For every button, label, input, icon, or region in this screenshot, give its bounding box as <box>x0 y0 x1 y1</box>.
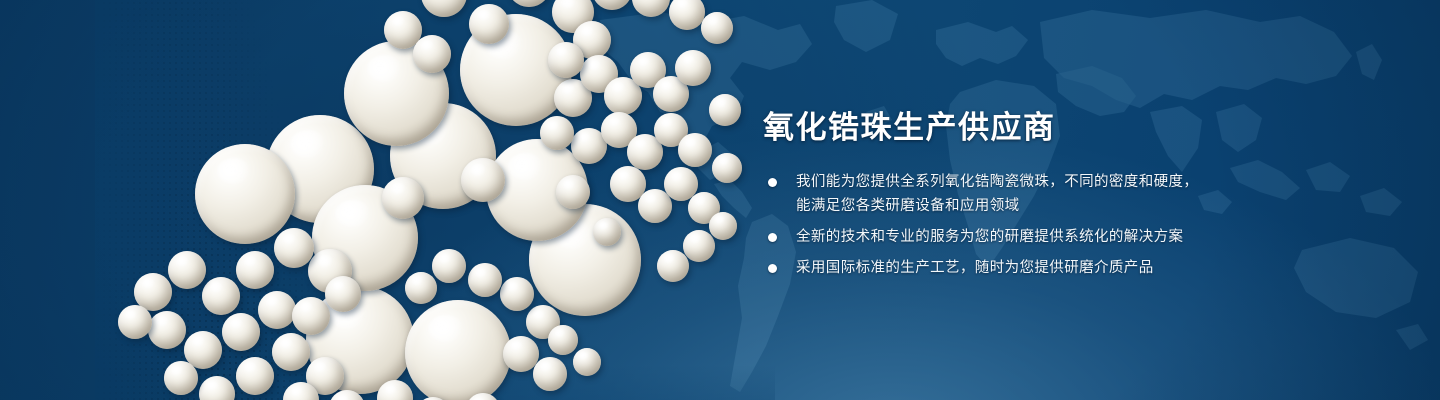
ceramic-bead <box>500 277 534 311</box>
ceramic-bead <box>709 94 741 126</box>
ceramic-bead <box>413 35 451 73</box>
ceramic-bead <box>272 333 310 371</box>
ceramic-bead <box>669 0 705 30</box>
ceramic-bead <box>421 0 467 17</box>
banner-headline: 氧化锆珠生产供应商 <box>763 108 1056 148</box>
ceramic-bead <box>168 251 206 289</box>
ceramic-bead <box>461 158 505 202</box>
ceramic-bead <box>468 263 502 297</box>
bullet-dot-icon <box>768 178 777 187</box>
bullet-dot-icon <box>768 233 777 242</box>
ceramic-bead <box>164 361 198 395</box>
banner-bullet-list: 我们能为您提供全系列氧化锆陶瓷微珠，不同的密度和硬度，能满足您各类研磨设备和应用… <box>768 170 1198 280</box>
ceramic-bead <box>556 175 590 209</box>
ceramic-bead <box>709 212 737 240</box>
ceramic-bead <box>701 12 733 44</box>
ceramic-bead <box>405 300 511 400</box>
ceramic-bead <box>148 311 186 349</box>
ceramic-bead <box>236 251 274 289</box>
ceramic-bead <box>540 116 574 150</box>
ceramic-bead <box>657 250 689 282</box>
banner-bullet-item: 采用国际标准的生产工艺，随时为您提供研磨介质产品 <box>768 256 1198 280</box>
ceramic-bead <box>432 249 466 283</box>
ceramic-bead <box>573 348 601 376</box>
ceramic-bead <box>469 4 509 44</box>
bullet-text-line: 采用国际标准的生产工艺，随时为您提供研磨介质产品 <box>796 256 1198 280</box>
bullet-text-line: 我们能为您提供全系列氧化锆陶瓷微珠，不同的密度和硬度， <box>796 170 1198 194</box>
ceramic-bead <box>325 276 361 312</box>
ceramic-bead <box>292 297 330 335</box>
banner-bullet-item: 我们能为您提供全系列氧化锆陶瓷微珠，不同的密度和硬度，能满足您各类研磨设备和应用… <box>768 170 1198 218</box>
ceramic-bead <box>274 228 314 268</box>
ceramic-bead <box>548 325 578 355</box>
ceramic-bead <box>548 42 584 78</box>
bullet-dot-icon <box>768 264 777 273</box>
ceramic-bead <box>632 0 670 17</box>
bead-cluster <box>95 0 775 400</box>
banner-content: 氧化锆珠生产供应商 我们能为您提供全系列氧化锆陶瓷微珠，不同的密度和硬度，能满足… <box>763 0 1403 400</box>
ceramic-bead <box>533 357 567 391</box>
banner-bullet-item: 全新的技术和专业的服务为您的研磨提供系统化的解决方案 <box>768 225 1198 249</box>
ceramic-bead <box>118 305 152 339</box>
ceramic-bead <box>712 153 742 183</box>
ceramic-bead <box>593 218 621 246</box>
ceramic-bead <box>195 144 295 244</box>
zirconia-beads-photo <box>95 0 775 400</box>
ceramic-bead <box>507 0 551 7</box>
hero-banner: 氧化锆珠生产供应商 我们能为您提供全系列氧化锆陶瓷微珠，不同的密度和硬度，能满足… <box>0 0 1440 400</box>
ceramic-bead <box>678 133 712 167</box>
ceramic-bead <box>199 376 235 400</box>
ceramic-bead <box>675 50 711 86</box>
ceramic-bead <box>382 177 424 219</box>
ceramic-bead <box>222 313 260 351</box>
ceramic-bead <box>592 0 632 10</box>
ceramic-bead <box>258 291 296 329</box>
bullet-text-line: 能满足您各类研磨设备和应用领域 <box>796 194 1198 218</box>
bullet-text-line: 全新的技术和专业的服务为您的研磨提供系统化的解决方案 <box>796 225 1198 249</box>
ceramic-bead <box>202 277 240 315</box>
ceramic-bead <box>236 357 274 395</box>
ceramic-bead <box>683 230 715 262</box>
ceramic-bead <box>405 272 437 304</box>
